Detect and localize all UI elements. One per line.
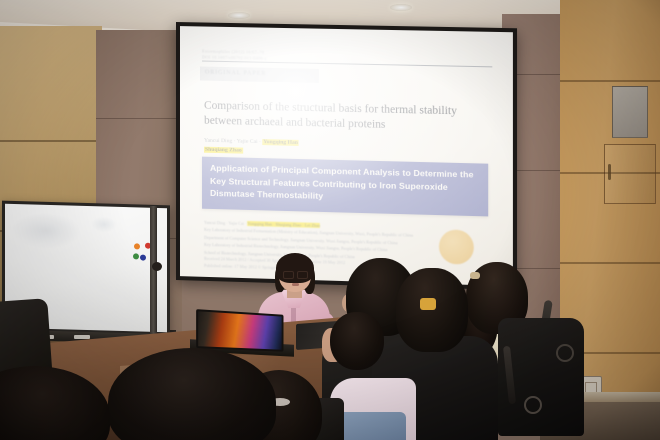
whiteboard-reflection (11, 212, 81, 250)
downlight-icon (228, 12, 250, 19)
panel-seam (0, 140, 102, 142)
whiteboard-stand-post (150, 206, 157, 346)
projection-screen[interactable]: Extremophiles (2012) 16:67–78 DOI 10.100… (176, 22, 517, 290)
poster-title: Application of Principal Component Analy… (210, 162, 476, 207)
projection-screen-surface: Extremophiles (2012) 16:67–78 DOI 10.100… (180, 26, 513, 286)
hair-band (420, 298, 436, 310)
section-band-label: ORIGINAL PAPER (205, 70, 266, 77)
audience-member-head (396, 268, 468, 352)
header-rule (202, 61, 492, 68)
hair-clip (470, 272, 480, 279)
backpack-ring (556, 344, 574, 362)
panel-seam (560, 262, 660, 264)
audience-member-head (330, 312, 384, 370)
glasses-icon (283, 271, 308, 278)
whiteboard-adjust-knob[interactable] (152, 262, 162, 271)
magnet-green-icon[interactable] (133, 253, 139, 259)
backpack-buckle (524, 396, 542, 414)
presenter-mouth (292, 283, 299, 286)
whiteboard-reflection (91, 216, 117, 233)
magnet-blue-icon[interactable] (140, 255, 146, 261)
lecture-room-photo: Extremophiles (2012) 16:67–78 DOI 10.100… (0, 0, 660, 440)
wall-access-panel[interactable] (612, 86, 648, 138)
presenter-hair (276, 253, 314, 283)
downlight-icon (390, 4, 412, 11)
cabinet-handle-icon[interactable] (608, 164, 611, 180)
orange-circle-graphic (439, 229, 474, 264)
paper-title: Comparison of the structural basis for t… (204, 99, 492, 136)
presentation-slide: Extremophiles (2012) 16:67–78 DOI 10.100… (180, 26, 513, 286)
panel-seam (560, 80, 660, 82)
presenter-monitor[interactable] (196, 309, 283, 352)
author-highlight-1: Yongqing Han (262, 139, 299, 146)
wall-cabinet-door[interactable] (604, 144, 656, 204)
author-names-plain: Yancui Ding · Yajie Cai · (204, 138, 262, 145)
magnet-orange-icon[interactable] (134, 243, 140, 249)
author-highlight-2: Shuqiang Zhao (204, 146, 243, 153)
panel-seam (96, 118, 182, 119)
